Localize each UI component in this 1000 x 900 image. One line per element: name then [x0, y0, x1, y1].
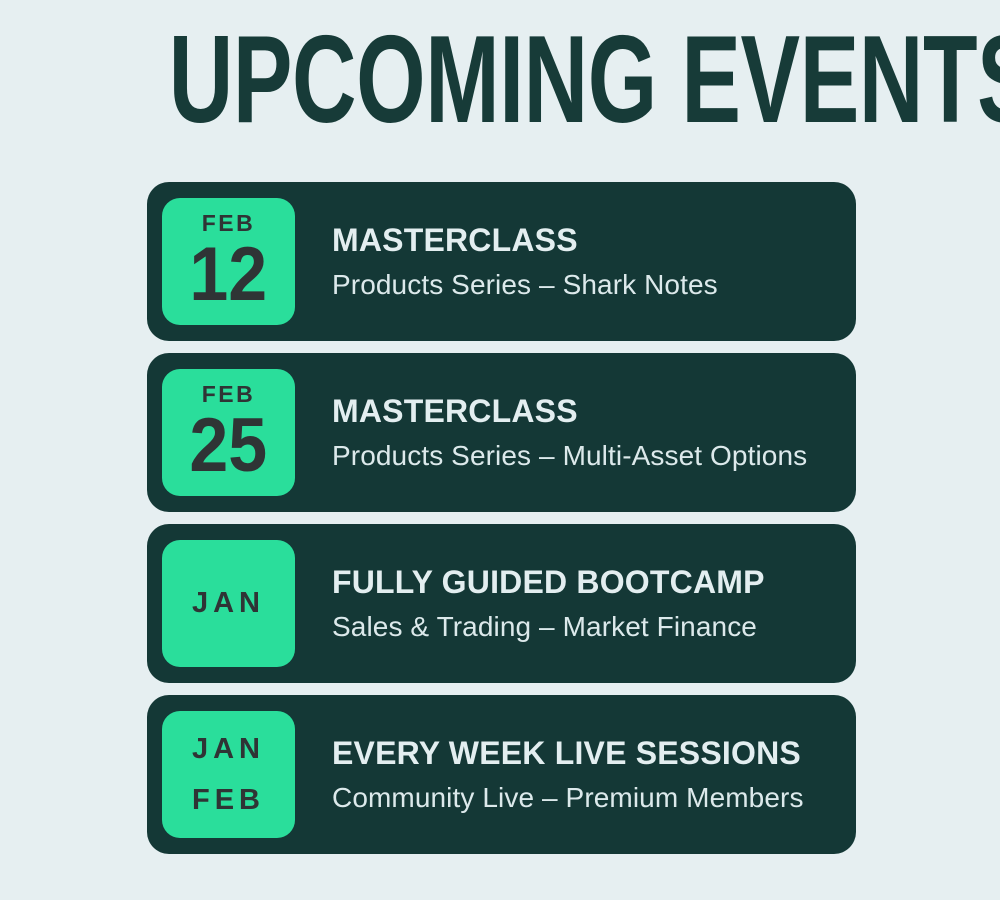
badge-day-label: 12: [190, 239, 268, 312]
event-subtitle: Products Series – Multi-Asset Options: [332, 441, 807, 470]
event-heading: FULLY GUIDED BOOTCAMP: [332, 566, 765, 600]
title-container: UPCOMING EVENTS: [0, 18, 1000, 142]
events-list: FEB 12 MASTERCLASS Products Series – Sha…: [147, 182, 856, 854]
event-card[interactable]: JAN FEB EVERY WEEK LIVE SESSIONS Communi…: [147, 695, 856, 854]
date-badge: FEB 25: [162, 369, 295, 496]
date-badge: JAN: [162, 540, 295, 667]
event-card[interactable]: JAN FULLY GUIDED BOOTCAMP Sales & Tradin…: [147, 524, 856, 683]
upcoming-events-poster: UPCOMING EVENTS FEB 12 MASTERCLASS Produ…: [0, 0, 1000, 900]
event-heading: EVERY WEEK LIVE SESSIONS: [332, 737, 804, 771]
event-subtitle: Sales & Trading – Market Finance: [332, 612, 765, 641]
event-text-block: FULLY GUIDED BOOTCAMP Sales & Trading – …: [332, 566, 765, 642]
event-heading: MASTERCLASS: [332, 395, 807, 429]
badge-month2-label: FEB: [192, 786, 265, 815]
event-subtitle: Products Series – Shark Notes: [332, 270, 718, 299]
event-card[interactable]: FEB 25 MASTERCLASS Products Series – Mul…: [147, 353, 856, 512]
event-heading: MASTERCLASS: [332, 224, 718, 258]
event-text-block: MASTERCLASS Products Series – Multi-Asse…: [332, 395, 807, 471]
event-subtitle: Community Live – Premium Members: [332, 783, 804, 812]
event-text-block: EVERY WEEK LIVE SESSIONS Community Live …: [332, 737, 804, 813]
badge-month-label: JAN: [192, 589, 265, 618]
date-badge: JAN FEB: [162, 711, 295, 838]
date-badge: FEB 12: [162, 198, 295, 325]
page-title: UPCOMING EVENTS: [169, 18, 1000, 142]
event-text-block: MASTERCLASS Products Series – Shark Note…: [332, 224, 718, 300]
event-card[interactable]: FEB 12 MASTERCLASS Products Series – Sha…: [147, 182, 856, 341]
badge-day-label: 25: [190, 410, 268, 483]
badge-month-label: JAN: [192, 735, 265, 764]
